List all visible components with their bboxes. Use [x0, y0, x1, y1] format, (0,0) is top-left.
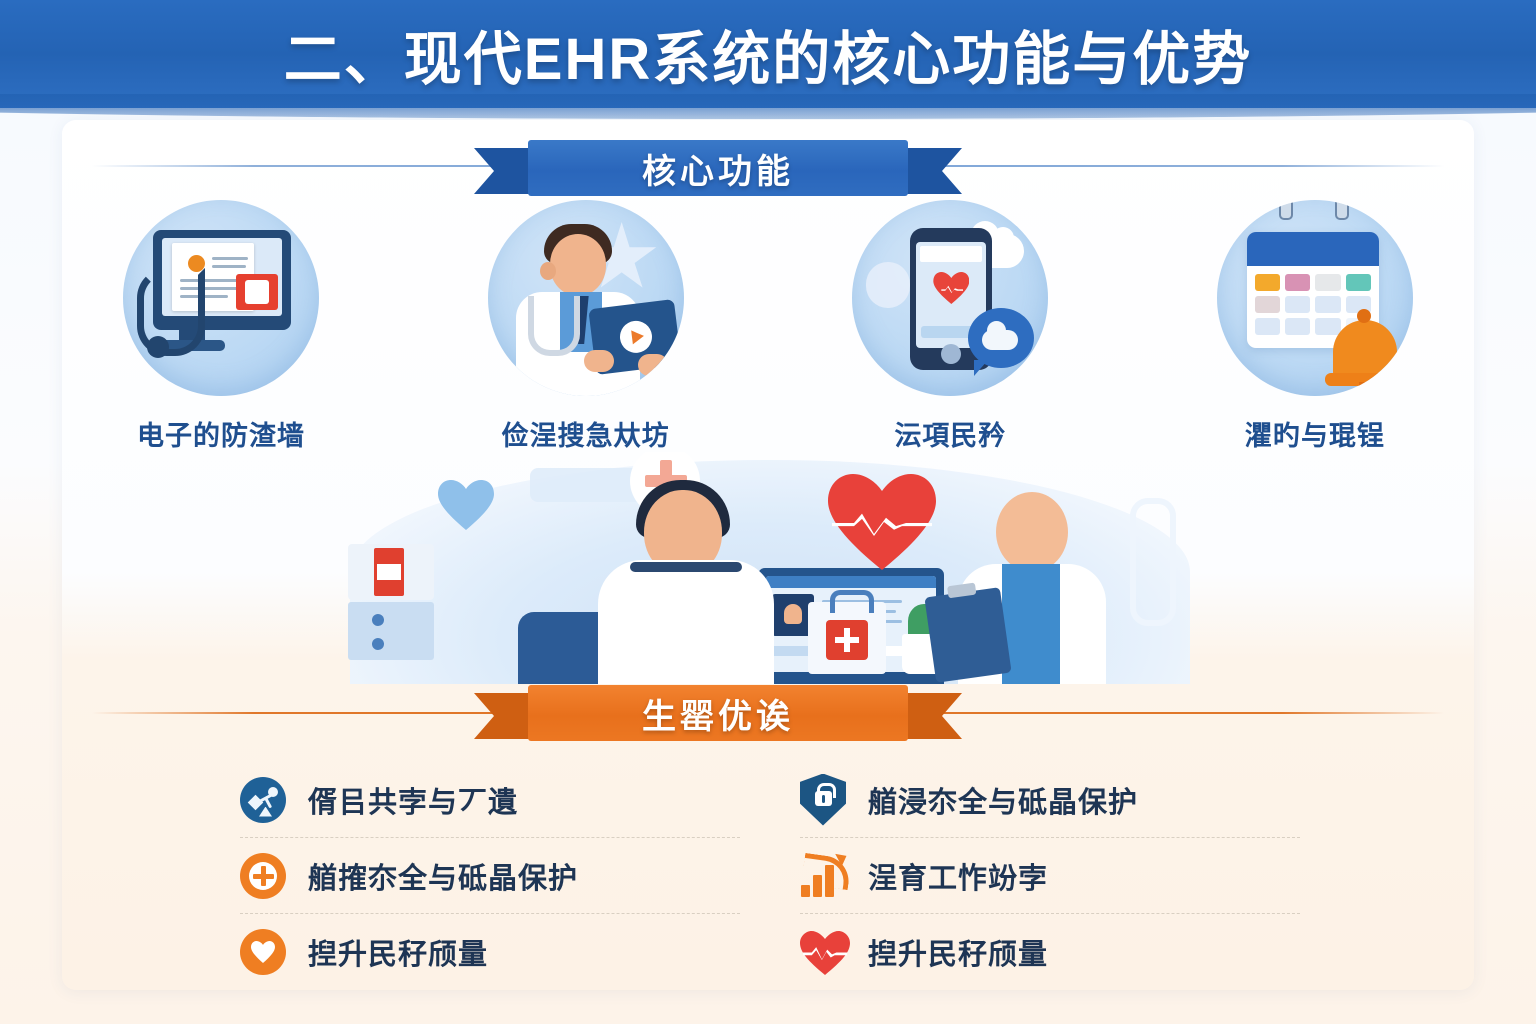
- cabinet-drawers: [348, 602, 434, 660]
- calendar-ring-right: [1335, 200, 1349, 220]
- calendar-ring-left: [1279, 200, 1293, 220]
- advantage-item[interactable]: 浧育工怍竕孛: [800, 838, 1300, 914]
- advantage-item[interactable]: 艏搉夵全与砥晶保护: [240, 838, 740, 914]
- monitor-stethoscope-icon: [123, 200, 319, 396]
- doctor-head: [550, 234, 606, 296]
- bell-icon: [1333, 320, 1397, 378]
- advantage-label: 浧育工怍竕孛: [868, 855, 1048, 897]
- clinic-telemedicine-scene: [330, 452, 1210, 684]
- stethoscope-bell: [147, 336, 169, 358]
- doctor-ear: [540, 262, 556, 280]
- advantage-item[interactable]: 揑升民秄颀量: [800, 914, 1300, 990]
- play-icon: [618, 319, 654, 355]
- heart-pulse-icon: [800, 929, 846, 975]
- calendar-header: [1247, 232, 1379, 266]
- advantage-label: 艏搉夵全与砥晶保护: [308, 855, 578, 897]
- doctor-tablet-icon: [488, 200, 684, 396]
- core-functions-ribbon: 核心功能: [528, 140, 908, 196]
- feature-label: 灈旳与琨锃: [1245, 414, 1385, 453]
- caduceus-decoration: [1130, 498, 1176, 626]
- infographic-page: 二、现代EHR系统的核心功能与优势 核心功能: [0, 0, 1536, 1024]
- shield-lock-icon: [800, 774, 846, 826]
- advantage-label: 艏浸夵全与砥晶保护: [868, 779, 1138, 821]
- mobile-health-icon: [852, 200, 1048, 396]
- feature-label: 俭浧搜急夶坊: [502, 414, 670, 453]
- core-features-row: 电子的防渣墙 俭浧搜急夶坊: [96, 200, 1440, 460]
- clipboard: [924, 587, 1011, 683]
- stethoscope-icon: [528, 296, 580, 356]
- apple-icon: [866, 262, 910, 308]
- cloud-sync-icon: [982, 330, 1018, 350]
- feature-label: 电子的防渣墙: [137, 414, 305, 453]
- ribbon-body: 生罂优诶: [528, 685, 908, 741]
- male-doctor-at-desk: [598, 560, 774, 684]
- feature-item[interactable]: 灈旳与琨锃: [1190, 200, 1440, 460]
- male-doctor-collar: [630, 562, 742, 572]
- cross-horizontal: [250, 291, 264, 295]
- page-header: 二、现代EHR系统的核心功能与优势: [0, 0, 1536, 108]
- first-aid-kit: [808, 602, 886, 674]
- bell-clapper: [1359, 382, 1377, 396]
- page-title: 二、现代EHR系统的核心功能与优势: [284, 12, 1252, 96]
- doctor-hand-left: [584, 350, 614, 372]
- advantages-label: 生罂优诶: [642, 689, 794, 738]
- chat-bubble-icon: [968, 308, 1034, 368]
- cross-vertical: [255, 286, 259, 299]
- heart-circle-icon: [240, 929, 286, 975]
- advantage-item[interactable]: 揑升民秄颀量: [240, 914, 740, 990]
- phone-topbar: [920, 246, 982, 262]
- female-doctor-head: [996, 492, 1068, 572]
- medical-cross-icon: [240, 853, 286, 899]
- growth-chart-icon: [800, 853, 846, 899]
- ribbon-body: 核心功能: [528, 140, 908, 196]
- feature-label: 沄項民矜: [894, 414, 1006, 453]
- advantages-ribbon: 生罂优诶: [528, 685, 908, 741]
- home-button-icon: [941, 344, 961, 364]
- screen-topbar: [766, 576, 936, 588]
- feature-item[interactable]: 俭浧搜急夶坊: [461, 200, 711, 460]
- core-functions-label: 核心功能: [642, 144, 794, 193]
- advantage-item[interactable]: 艏浸夵全与砥晶保护: [800, 762, 1300, 838]
- share-network-icon: [240, 777, 286, 823]
- heart-icon: [933, 272, 969, 304]
- feature-item[interactable]: 沄項民矜: [825, 200, 1075, 460]
- advantage-label: 偦㠯共孛与丆遺: [308, 779, 518, 821]
- advantage-item[interactable]: 偦㠯共孛与丆遺: [240, 762, 740, 838]
- calendar-bell-icon: [1217, 200, 1413, 396]
- file-shelf: [348, 544, 434, 600]
- advantages-list: 偦㠯共孛与丆遺 艏浸夵全与砥晶保护 艏搉夵全与砥晶保护 浧育工怍竕孛 揑升民秄颀…: [240, 762, 1300, 990]
- medical-card-icon: [236, 274, 278, 310]
- advantage-label: 揑升民秄颀量: [308, 931, 488, 973]
- feature-item[interactable]: 电子的防渣墙: [96, 200, 346, 460]
- advantage-label: 揑升民秄颀量: [868, 931, 1048, 973]
- doctor-hand-right: [638, 354, 668, 376]
